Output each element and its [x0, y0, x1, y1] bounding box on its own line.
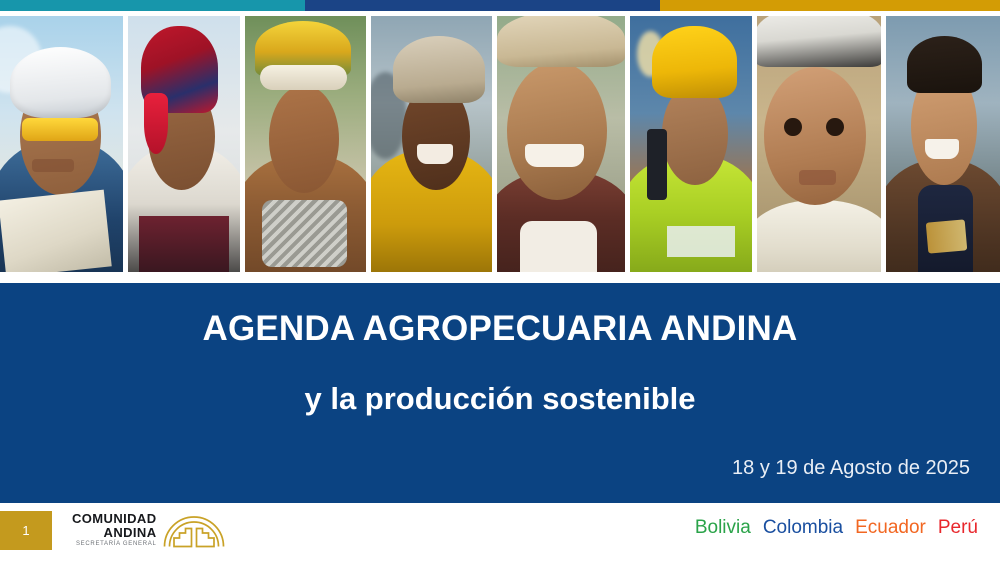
country-peru: Perú: [938, 517, 978, 539]
photo-yellow-helmet: [652, 26, 737, 98]
top-color-bar: [0, 0, 1000, 11]
photo-straw-hat: [497, 16, 625, 67]
photo-radio: [647, 129, 667, 201]
event-date: 18 y 19 de Agosto de 2025: [732, 457, 970, 480]
photo-hair: [907, 36, 982, 92]
photo-vest-reflective-stripe: [667, 226, 735, 257]
photo-hardhat: [10, 47, 111, 119]
photo-beaded-band: [260, 65, 347, 91]
photo-smile: [32, 159, 74, 172]
photo-eye-left: [784, 118, 801, 136]
country-colombia: Colombia: [763, 517, 843, 539]
brand-line-andina: ANDINA: [72, 526, 156, 540]
photo-smile: [525, 144, 584, 167]
photo-collar: [520, 221, 597, 272]
top-bar-segment-gold: [660, 0, 1000, 11]
page-title: AGENDA AGROPECUARIA ANDINA: [0, 309, 1000, 349]
member-countries-list: Bolivia Colombia Ecuador Perú: [695, 517, 978, 539]
photo-smile: [417, 144, 453, 164]
country-ecuador: Ecuador: [855, 517, 926, 539]
photo-smile: [799, 170, 836, 185]
photo-face: [269, 85, 339, 193]
title-banner: AGENDA AGROPECUARIA ANDINA y la producci…: [0, 283, 1000, 503]
comunidad-andina-logo: COMUNIDAD ANDINA SECRETARÍA GENERAL: [72, 512, 225, 548]
photo-strip: [0, 16, 1000, 272]
slide-footer: 1 COMUNIDAD ANDINA SECRETARÍA GENERAL Bo…: [0, 503, 1000, 562]
top-bar-segment-navy: [305, 0, 660, 11]
photo-panel-man-straw-hat-laughing: [371, 16, 492, 272]
photo-straw-hat: [393, 36, 485, 103]
andean-arch-icon: [163, 512, 225, 548]
photo-textile: [139, 216, 229, 272]
brand-line-secretaria-general: SECRETARÍA GENERAL: [72, 541, 156, 547]
photo-beaded-necklace: [262, 200, 347, 267]
photo-eye-right: [826, 118, 843, 136]
photo-panel-young-man-smiling: [886, 16, 1000, 272]
country-bolivia: Bolivia: [695, 517, 751, 539]
photo-smile: [925, 139, 959, 159]
photo-panel-andean-girl-hat: [757, 16, 881, 272]
photo-tshirt-print: [926, 219, 967, 253]
photo-papers: [0, 190, 112, 272]
photo-torso: [757, 200, 881, 272]
photo-face: [507, 62, 607, 200]
page-number-badge: 1: [0, 511, 52, 550]
brand-line-comunidad: COMUNIDAD: [72, 512, 156, 526]
photo-panel-woman-engineer-hardhat: [0, 16, 123, 272]
brand-wordmark: COMUNIDAD ANDINA SECRETARÍA GENERAL: [72, 512, 156, 548]
photo-safety-glasses: [22, 118, 98, 141]
photo-panel-amazonian-woman-headdress: [245, 16, 366, 272]
photo-panel-andean-man-weaving: [128, 16, 240, 272]
photo-white-felt-hat: [757, 16, 881, 67]
page-subtitle: y la producción sostenible: [0, 381, 1000, 417]
photo-panel-elderly-woman-smiling: [497, 16, 625, 272]
photo-panel-construction-worker-radio: [630, 16, 752, 272]
top-bar-segment-teal: [0, 0, 305, 11]
